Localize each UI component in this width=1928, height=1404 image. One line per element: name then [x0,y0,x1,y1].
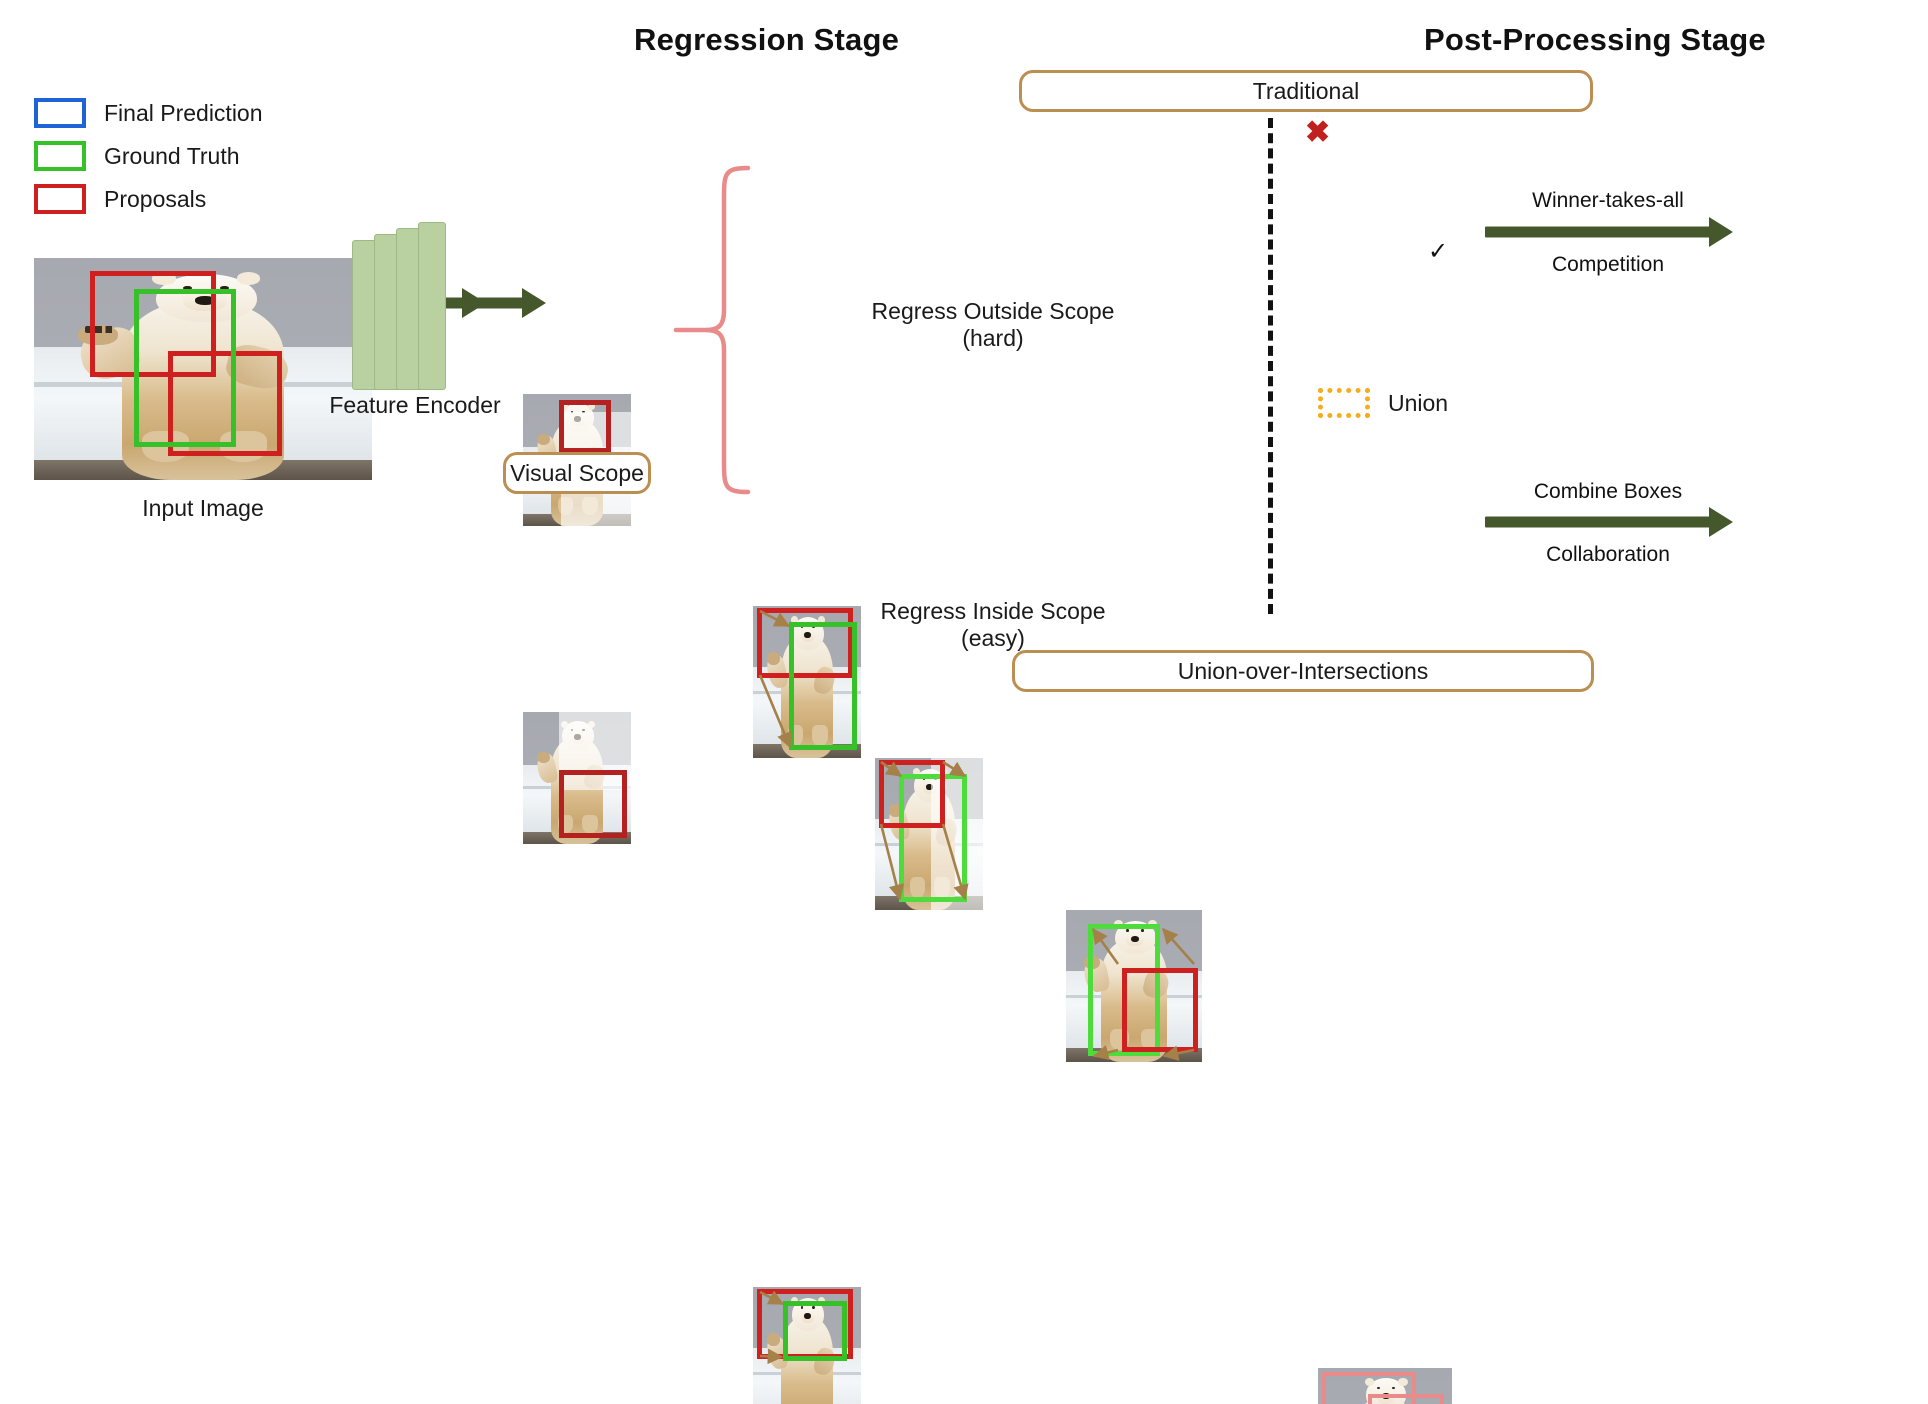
combine-boxes-label: Combine Boxes [1480,480,1736,504]
legend-label-proposals: Proposals [104,186,206,213]
input-image [34,258,372,480]
traditional-banner: Traditional [1019,70,1593,112]
ground-truth-box [134,289,236,447]
regress-inside-caption-line1: Regress Inside Scope [760,598,1226,625]
arrow-combine-boxes [1485,508,1735,536]
post-top-input-panel [1318,1368,1452,1404]
union-legend-label: Union [1388,390,1448,417]
arrow-winner-takes-all [1485,218,1735,246]
legend-item-proposals: Proposals [34,182,263,216]
union-over-intersections-banner: Union-over-Intersections [1012,650,1594,692]
reject-mark-icon: ✖ [1305,118,1330,148]
scope-proposal-box [559,400,611,453]
brace-connector [672,160,752,500]
legend-label-ground-truth: Ground Truth [104,143,240,170]
legend-label-final-prediction: Final Prediction [104,100,263,127]
legend-swatch-ground-truth [34,141,86,171]
bear-right-ear [237,272,261,284]
accept-mark-icon: ✓ [1428,240,1448,264]
regress-outside-panel-2 [875,758,983,910]
regress-outside-caption: Regress Outside Scope (hard) [760,298,1226,352]
scope-proposal-box [559,770,627,838]
arrow-encoder-to-scope [452,288,546,318]
regress-inside-caption-line2: (easy) [760,625,1226,652]
regress-inside-panel-1 [753,1287,861,1404]
union-banner-label: Union-over-Intersections [1178,658,1429,685]
winner-takes-all-label: Winner-takes-all [1480,189,1736,213]
regress-outside-panel-3 [1066,910,1202,1062]
visual-scope-image-bottom [523,712,631,844]
legend-swatch-proposals [34,184,86,214]
visual-scope-label: Visual Scope [510,460,644,487]
legend-item-final-prediction: Final Prediction [34,96,263,130]
shift-arrows [875,758,983,910]
input-image-caption: Input Image [34,495,372,522]
competition-label: Competition [1480,253,1736,277]
feature-encoder-caption: Feature Encoder [300,392,530,419]
legend-swatch-final-prediction [34,98,86,128]
regress-inside-caption: Regress Inside Scope (easy) [760,598,1226,652]
regress-outside-caption-line2: (hard) [760,325,1226,352]
visual-scope-banner: Visual Scope [503,452,651,494]
stage-divider [1268,118,1273,614]
traditional-banner-label: Traditional [1253,78,1360,105]
regress-outside-caption-line1: Regress Outside Scope [760,298,1226,325]
collaboration-label: Collaboration [1480,543,1736,567]
post-processing-stage-title: Post-Processing Stage [1424,22,1766,58]
union-legend: Union [1318,388,1448,418]
legend: Final Prediction Ground Truth Proposals [34,96,263,216]
regression-stage-title: Regression Stage [634,22,899,58]
candidate-box-accepted [1368,1394,1444,1404]
shift-arrows [1066,910,1202,1062]
union-legend-swatch [1318,388,1370,418]
legend-item-ground-truth: Ground Truth [34,139,263,173]
encoder-slab-4 [418,222,446,390]
shift-arrows [753,1287,861,1404]
